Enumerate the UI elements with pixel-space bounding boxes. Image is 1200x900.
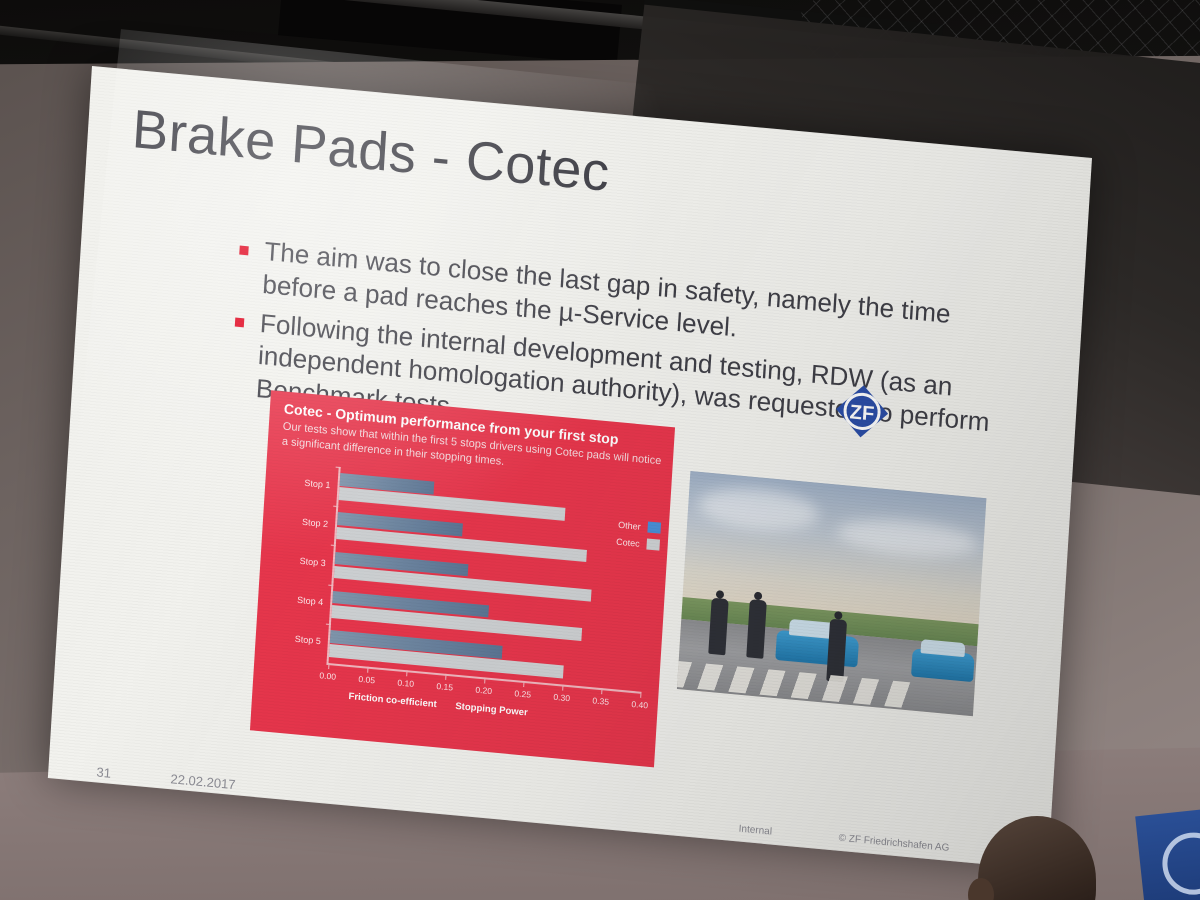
projection-screen: Brake Pads - Cotec The aim was to close … (44, 66, 1104, 900)
x-axis-tick (640, 692, 641, 698)
slide-footer: 31 22.02.2017 Internal © ZF Friedrichsha… (49, 760, 1049, 852)
x-axis-tick-label: 0.20 (475, 685, 492, 697)
x-axis-tick-label: 0.00 (319, 670, 336, 682)
x-axis-tick (367, 667, 368, 673)
copyright-label: © ZF Friedrichshafen AG (838, 833, 949, 854)
x-axis-tick-label: 0.10 (397, 677, 414, 689)
person-head (978, 816, 1096, 900)
x-axis-tick-label: 0.05 (358, 674, 375, 686)
x-axis-tick-label: 0.40 (631, 699, 648, 711)
chart-card: Cotec - Optimum performance from your fi… (250, 390, 675, 767)
legend-swatch-icon (647, 521, 661, 533)
blue-sign-circle-icon (1159, 830, 1200, 898)
svg-text:ZF: ZF (849, 401, 875, 425)
bullet-square-icon (235, 317, 245, 327)
category-label: Stop 1 (304, 477, 331, 489)
x-axis-tick (523, 681, 524, 687)
chart-plot-area: Stop 1Stop 2Stop 3Stop 4Stop 50.000.050.… (326, 467, 652, 694)
x-axis-tick-label: 0.25 (514, 688, 531, 700)
x-axis-tick (328, 663, 329, 669)
crosswalk-photo (677, 471, 987, 716)
classification-label: Internal (738, 823, 772, 837)
page-title: Brake Pads - Cotec (130, 98, 611, 204)
slide: Brake Pads - Cotec The aim was to close … (48, 66, 1092, 870)
date-label: 22.02.2017 (170, 771, 236, 792)
x-axis-tick (562, 685, 563, 691)
page-number: 31 (96, 764, 111, 780)
legend-item-other: Other (617, 519, 661, 534)
category-label: Stop 3 (299, 556, 326, 568)
legend-item-cotec: Cotec (616, 536, 660, 551)
blue-sign (1135, 808, 1200, 900)
x-axis-tick-label: 0.15 (436, 681, 453, 693)
x-axis-label: Friction co-efficient (348, 691, 437, 710)
pedestrian (708, 598, 728, 656)
x-axis-label-secondary: Stopping Power (455, 701, 528, 719)
screenshot-root: Brake Pads - Cotec The aim was to close … (0, 0, 1200, 900)
zf-logo-icon: ZF (833, 382, 890, 441)
x-axis-tick (601, 688, 602, 694)
x-axis-tick (445, 674, 446, 680)
x-axis-tick (406, 670, 407, 676)
legend-swatch-icon (646, 538, 660, 550)
pedestrian (746, 599, 767, 659)
bullet-square-icon (239, 246, 249, 256)
x-axis-tick-label: 0.30 (553, 692, 570, 704)
category-label: Stop 4 (297, 595, 324, 607)
x-axis-tick-label: 0.35 (592, 695, 609, 707)
audience-person (960, 800, 1150, 900)
x-axis-tick (484, 677, 485, 683)
legend-label: Other (618, 519, 641, 531)
category-label: Stop 5 (294, 634, 321, 646)
category-label: Stop 2 (302, 517, 329, 529)
legend-label: Cotec (616, 536, 640, 548)
chart-legend: Other Cotec (615, 519, 661, 557)
